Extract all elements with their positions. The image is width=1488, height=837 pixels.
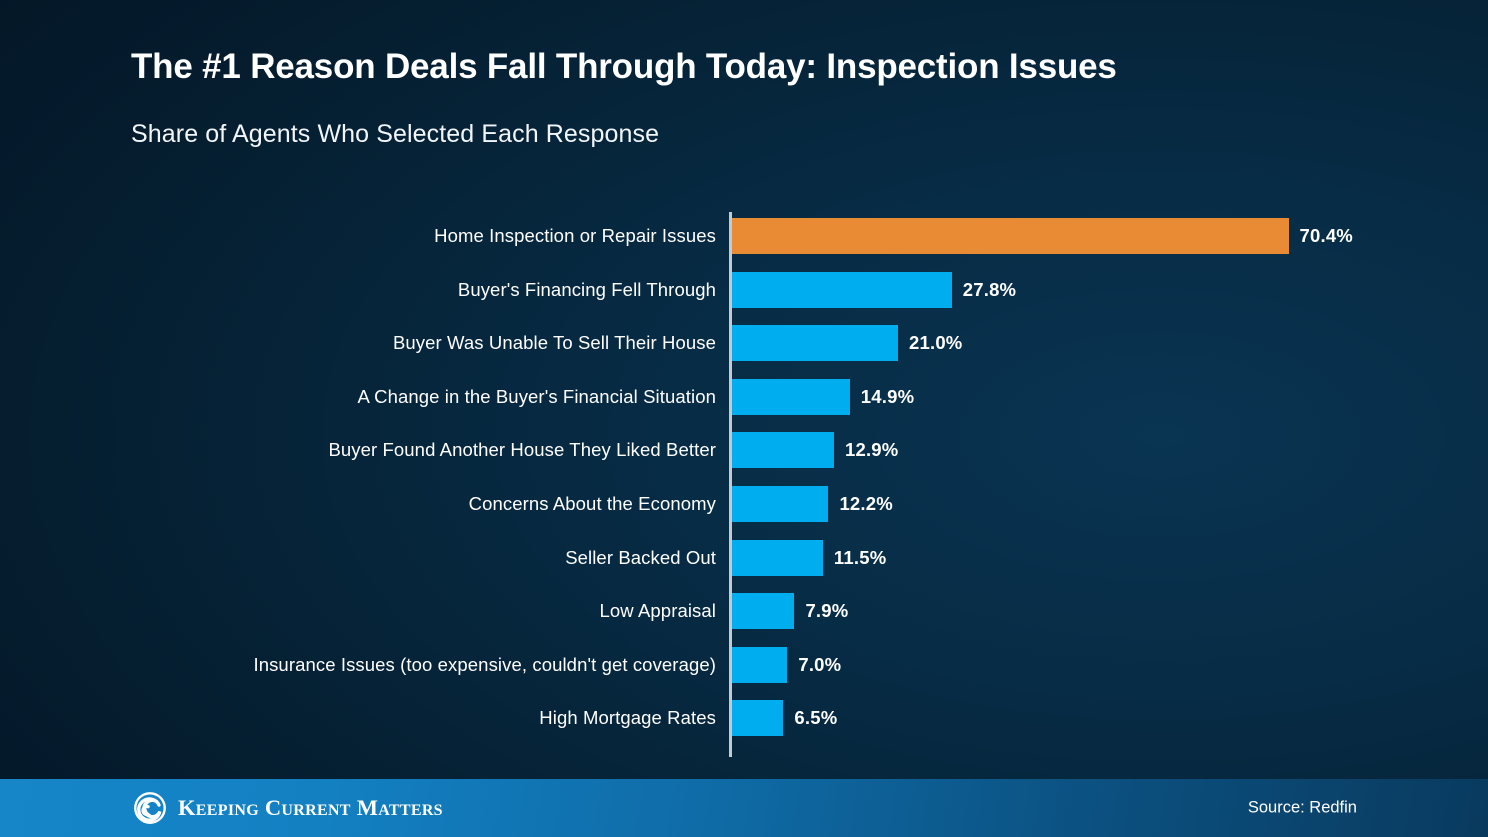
bar-value-label: 12.2% (839, 493, 892, 515)
bar-value-label: 14.9% (861, 386, 914, 408)
bar-rect[interactable] (732, 700, 783, 736)
bar-track (732, 647, 787, 683)
source-note: Source: Redfin (1248, 799, 1357, 818)
kcm-swirl-logo-icon (133, 791, 167, 825)
bar-value-label: 6.5% (794, 707, 837, 729)
footer-bar: Keeping Current Matters Source: Redfin (0, 779, 1488, 837)
bar-category-label: A Change in the Buyer's Financial Situat… (357, 386, 716, 408)
bar-category-label: Buyer's Financing Fell Through (458, 279, 716, 301)
bar-track (732, 486, 828, 522)
bar-value-label: 7.9% (805, 600, 848, 622)
bar-category-label: Buyer Found Another House They Liked Bet… (328, 439, 716, 461)
bar-track (732, 379, 850, 415)
bar-row: Home Inspection or Repair Issues70.4% (0, 209, 1488, 263)
bar-value-label: 70.4% (1300, 225, 1353, 247)
bar-track (732, 325, 898, 361)
bar-track (732, 593, 794, 629)
bar-category-label: Seller Backed Out (565, 547, 716, 569)
bar-track (732, 700, 783, 736)
bar-track (732, 540, 823, 576)
bar-row: Concerns About the Economy12.2% (0, 477, 1488, 531)
bar-track (732, 432, 834, 468)
brand-lockup: Keeping Current Matters (133, 791, 443, 825)
bar-rect[interactable] (732, 593, 794, 629)
bar-row: High Mortgage Rates6.5% (0, 691, 1488, 745)
bar-value-label: 21.0% (909, 332, 962, 354)
bar-value-label: 11.5% (834, 547, 886, 569)
bar-rect[interactable] (732, 432, 834, 468)
bar-rect[interactable] (732, 486, 828, 522)
bar-category-label: Concerns About the Economy (469, 493, 716, 515)
slide-canvas: The #1 Reason Deals Fall Through Today: … (0, 0, 1488, 837)
bar-value-label: 12.9% (845, 439, 898, 461)
bar-rect[interactable] (732, 218, 1289, 254)
bar-row: A Change in the Buyer's Financial Situat… (0, 370, 1488, 424)
bar-category-label: Low Appraisal (600, 600, 716, 622)
brand-name: Keeping Current Matters (178, 795, 443, 821)
bar-value-label: 7.0% (798, 654, 841, 676)
bar-value-label: 27.8% (963, 279, 1016, 301)
bar-track (732, 218, 1289, 254)
bar-row: Buyer Was Unable To Sell Their House21.0… (0, 316, 1488, 370)
bar-rect[interactable] (732, 540, 823, 576)
bar-rect[interactable] (732, 272, 952, 308)
bar-rect[interactable] (732, 325, 898, 361)
bar-rect[interactable] (732, 647, 787, 683)
bar-row: Low Appraisal7.9% (0, 584, 1488, 638)
bar-track (732, 272, 952, 308)
bar-row: Seller Backed Out11.5% (0, 531, 1488, 585)
bar-rect[interactable] (732, 379, 850, 415)
bar-category-label: High Mortgage Rates (539, 707, 716, 729)
bar-category-label: Home Inspection or Repair Issues (434, 225, 716, 247)
bar-chart-plot-area: Home Inspection or Repair Issues70.4%Buy… (0, 0, 1488, 779)
bar-row: Insurance Issues (too expensive, couldn'… (0, 638, 1488, 692)
bar-row: Buyer Found Another House They Liked Bet… (0, 423, 1488, 477)
bar-row: Buyer's Financing Fell Through27.8% (0, 263, 1488, 317)
bar-category-label: Insurance Issues (too expensive, couldn'… (253, 654, 716, 676)
bar-category-label: Buyer Was Unable To Sell Their House (393, 332, 716, 354)
